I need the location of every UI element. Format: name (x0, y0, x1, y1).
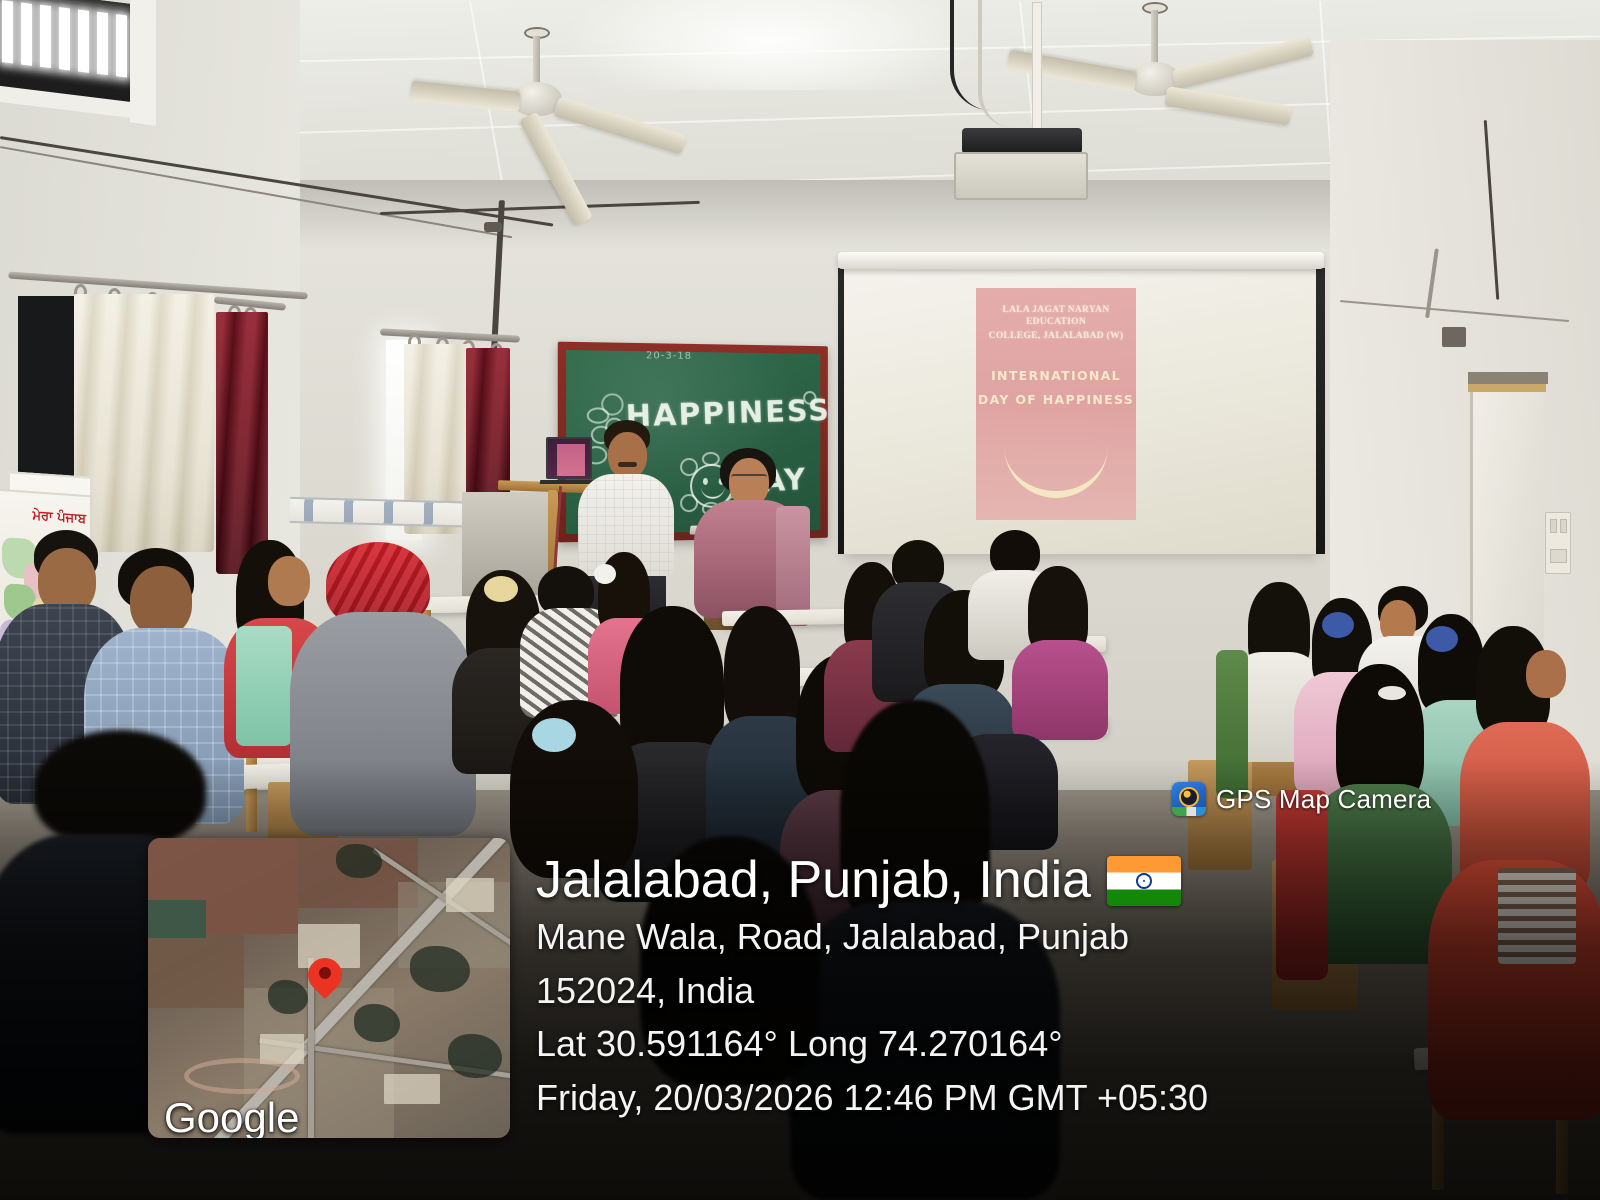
poster-title: ਮੇਰਾ ਪੰਜਾਬ (32, 509, 86, 526)
glasses (731, 474, 767, 481)
window-frame (130, 0, 156, 126)
google-watermark: Google (164, 1094, 299, 1138)
smile-arc-icon (1004, 444, 1108, 498)
location-title: Jalalabad, Punjab, India (536, 854, 1091, 907)
location-pin-icon (308, 958, 342, 992)
hair-scrunchie (594, 564, 616, 584)
slide-title-line1: INTERNATIONAL (976, 368, 1136, 383)
address-line-1: Mane Wala, Road, Jalalabad, Punjab (536, 913, 1208, 961)
head (268, 556, 310, 606)
torso (290, 612, 476, 836)
map-vegetation (354, 1004, 400, 1042)
slide-college-line1: LALA JAGAT NARYAN EDUCATION (976, 304, 1136, 329)
map-sports-track (184, 1058, 300, 1094)
chalk-petal (702, 452, 720, 466)
head (608, 432, 647, 478)
map-building (446, 878, 494, 912)
head (729, 458, 769, 506)
hair-scrunchie (1322, 612, 1354, 638)
hair-scrunchie (1426, 626, 1458, 652)
curtain-maroon-left (216, 312, 268, 574)
hair-scrunchie (484, 576, 518, 602)
datetime: Friday, 20/03/2026 12:46 PM GMT +05:30 (536, 1074, 1208, 1122)
map-thumbnail[interactable]: Google (148, 838, 510, 1138)
wall-sensor (484, 222, 502, 232)
presentation-slide: LALA JAGAT NARYAN EDUCATION COLLEGE, JAL… (976, 288, 1136, 520)
blackboard-word-happiness: HAPPINESS (625, 394, 831, 435)
gps-text-block: Jalalabad, Punjab, India Mane Wala, Road… (536, 828, 1208, 1121)
chalk-petal (803, 391, 816, 405)
switch-toggle[interactable] (1550, 519, 1557, 533)
map-vegetation (336, 844, 382, 878)
chalk-petal (680, 458, 698, 476)
fan-downrod (1151, 10, 1158, 66)
switch-toggle[interactable] (1560, 519, 1567, 533)
projector-cable (978, 0, 1014, 128)
hair-bead (1378, 686, 1406, 700)
screen-side-border-right (1316, 268, 1325, 554)
map-vegetation (448, 1034, 502, 1078)
fan-downrod (533, 36, 540, 86)
chalk-petal (680, 494, 698, 512)
gps-map-camera-badge: GPS Map Camera (1168, 778, 1441, 820)
torso (1012, 640, 1108, 740)
india-flag-icon (1107, 856, 1181, 906)
projector (962, 128, 1082, 154)
dupatta (776, 506, 810, 626)
hair-scrunchie (532, 718, 576, 752)
address-line-2: 152024, India (536, 967, 1208, 1015)
head (1526, 650, 1566, 698)
barred-window (0, 0, 140, 109)
socket[interactable] (1550, 549, 1567, 563)
screen-roller-casing (838, 252, 1324, 269)
head (130, 566, 192, 636)
curtain-cream-left (74, 294, 214, 552)
dupatta (1216, 650, 1248, 798)
moustache (618, 462, 637, 467)
map-building (384, 1074, 440, 1104)
gps-info-panel: Google Jalalabad, Punjab, India Mane Wal… (0, 828, 1600, 1158)
coordinates: Lat 30.591164° Long 74.270164° (536, 1020, 1208, 1068)
slide-college-line2: COLLEGE, JALALABAD (W) (976, 330, 1136, 342)
projector-housing (954, 152, 1088, 200)
map-field (148, 900, 206, 938)
ceiling-light-glare (560, 0, 980, 90)
map-vegetation (268, 980, 308, 1014)
map-vegetation (410, 946, 470, 992)
laptop[interactable] (546, 437, 592, 479)
slide-title-line2: DAY OF HAPPINESS (976, 392, 1136, 407)
app-name-label: GPS Map Camera (1216, 784, 1431, 815)
laptop-slide-preview (557, 444, 585, 476)
dupatta (236, 626, 292, 746)
junction-box (1442, 327, 1466, 347)
map-field (148, 934, 244, 1008)
blackboard-date-note: 20-3-18 (646, 350, 692, 362)
camera-lens-icon (1172, 782, 1206, 816)
location-title-row: Jalalabad, Punjab, India (536, 854, 1208, 907)
photo-canvas: ਮੇਰਾ ਪੰਜਾਬ LALA JAGAT NARYAN EDUCATION C… (0, 0, 1600, 1200)
door-recess (1468, 372, 1548, 384)
switchboard[interactable] (1545, 512, 1571, 574)
